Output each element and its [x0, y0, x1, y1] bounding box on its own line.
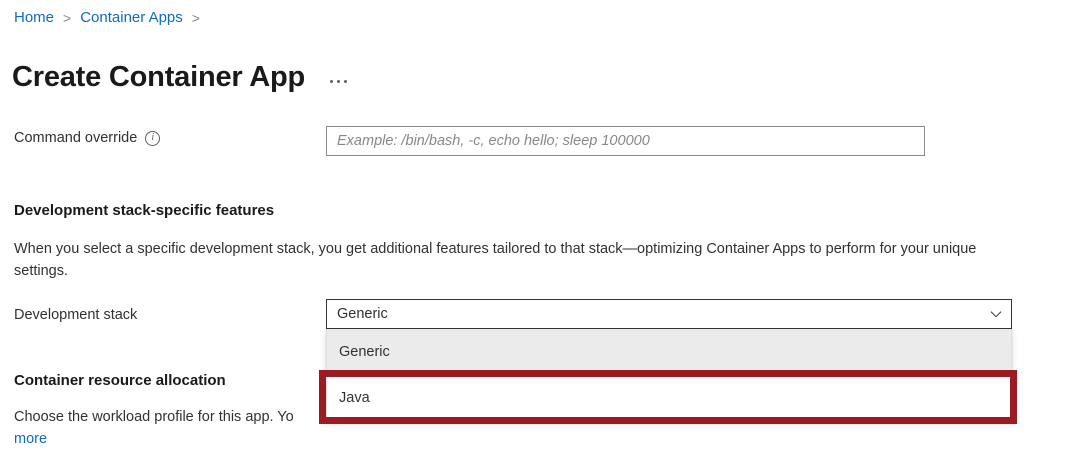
create-container-app-page: Home > Container Apps > Create Container… [0, 0, 1074, 470]
ellipsis-dot [344, 80, 347, 83]
resource-allocation-description-text: Choose the workload profile for this app… [14, 409, 294, 425]
dev-stack-section-heading: Development stack-specific features [14, 201, 274, 221]
command-override-label-text: Command override [14, 128, 137, 148]
ellipsis-dot [337, 80, 340, 83]
breadcrumb-item-home[interactable]: Home [14, 8, 54, 28]
ellipsis-dot [330, 80, 333, 83]
development-stack-combobox[interactable]: Generic [326, 299, 1012, 329]
breadcrumb-item-container-apps[interactable]: Container Apps [80, 8, 183, 28]
page-title: Create Container App [12, 59, 305, 95]
development-stack-option-java[interactable]: Java [327, 375, 1011, 421]
breadcrumb-separator: > [192, 8, 200, 28]
development-stack-option-generic[interactable]: Generic [327, 329, 1011, 375]
chevron-down-icon [989, 307, 1003, 321]
development-stack-option-list: Generic Java [326, 329, 1012, 421]
development-stack-selected-value: Generic [337, 305, 989, 323]
dev-stack-section-description: When you select a specific development s… [14, 238, 1019, 282]
resource-allocation-heading: Container resource allocation [14, 371, 226, 391]
breadcrumb: Home > Container Apps > [14, 8, 209, 28]
resource-allocation-more-link-wrap: more [14, 428, 47, 450]
learn-more-link[interactable]: more [14, 431, 47, 447]
page-title-row: Create Container App [12, 40, 350, 115]
command-override-label: Command override i [14, 128, 160, 148]
command-override-input[interactable] [326, 126, 925, 156]
development-stack-label: Development stack [14, 305, 137, 325]
breadcrumb-separator: > [63, 8, 71, 28]
info-circle-icon[interactable]: i [145, 131, 160, 146]
ellipsis-icon[interactable] [327, 76, 350, 87]
